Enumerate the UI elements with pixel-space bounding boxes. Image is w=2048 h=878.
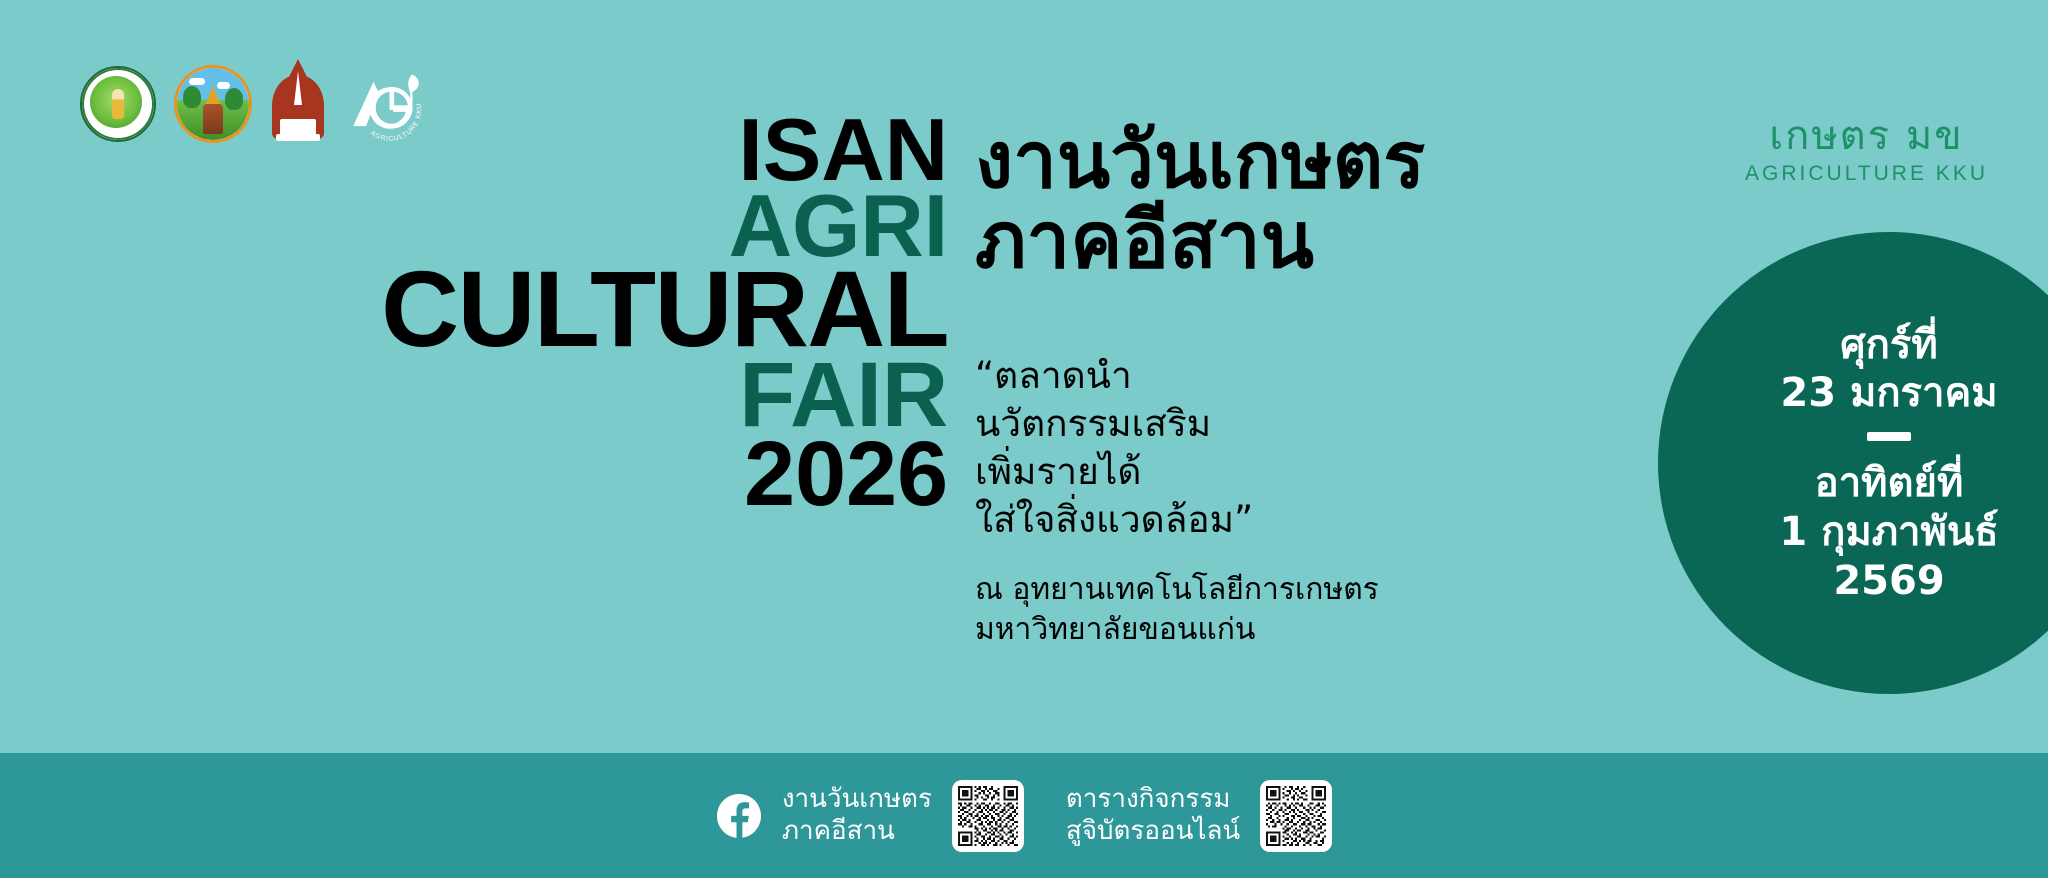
facebook-page-line-2: ภาคอีสาน <box>782 816 932 848</box>
thai-title-line-1: งานวันเกษตร <box>975 122 1675 202</box>
footer-bar: งานวันเกษตร ภาคอีสาน <box>0 753 2048 878</box>
schedule-contact-group[interactable]: ตารางกิจกรรม สูจิบัตรออนไลน์ <box>1066 780 1332 852</box>
schedule-label: ตารางกิจกรรม สูจิบัตรออนไลน์ <box>1066 784 1240 847</box>
facebook-icon[interactable] <box>716 793 762 839</box>
date-start-day: ศุกร์ที่ <box>1780 321 1997 370</box>
kku-wordmark-thai: เกษตร มข <box>1745 116 1988 156</box>
event-venue: ณ อุทยานเทคโนโลยีการเกษตร มหาวิทยาลัยขอน… <box>975 570 1535 649</box>
event-headline: ISAN AGRI CULTURAL FAIR 2026 <box>0 112 960 514</box>
headline-line-year: 2026 <box>0 435 960 514</box>
facebook-page-line-1: งานวันเกษตร <box>782 784 932 816</box>
date-year: 2569 <box>1779 557 1998 606</box>
venue-line-1: ณ อุทยานเทคโนโลยีการเกษตร <box>975 570 1535 610</box>
agriculture-kku-wordmark: เกษตร มข AGRICULTURE KKU <box>1745 116 1988 186</box>
schedule-line-2: สูจิบัตรออนไลน์ <box>1066 816 1240 848</box>
facebook-contact-group[interactable]: งานวันเกษตร ภาคอีสาน <box>716 780 1024 852</box>
slogan-line-1: “ตลาดนำ <box>975 352 1495 400</box>
date-start-group: ศุกร์ที่ 23 มกราคม <box>1780 321 1997 419</box>
venue-line-2: มหาวิทยาลัยขอนแก่น <box>975 610 1535 650</box>
date-end-day: อาทิตย์ที่ <box>1779 459 1998 508</box>
thai-title-line-2: ภาคอีสาน <box>975 202 1675 282</box>
qr-code-facebook[interactable] <box>952 780 1024 852</box>
event-slogan: “ตลาดนำ นวัตกรรมเสริม เพิ่มรายได้ ใส่ใจส… <box>975 352 1495 544</box>
event-date-badge: ศุกร์ที่ 23 มกราคม อาทิตย์ที่ 1 กุมภาพัน… <box>1658 232 2048 694</box>
facebook-page-name: งานวันเกษตร ภาคอีสาน <box>782 784 932 847</box>
date-end-group: อาทิตย์ที่ 1 กุมภาพันธ์ 2569 <box>1779 459 1998 605</box>
slogan-line-4: ใส่ใจสิ่งแวดล้อม” <box>975 496 1495 544</box>
headline-line-cultural: CULTURAL <box>0 263 960 356</box>
date-range-separator-icon <box>1867 432 1911 441</box>
thai-event-title: งานวันเกษตร ภาคอีสาน <box>975 122 1675 281</box>
slogan-line-2: นวัตกรรมเสริม <box>975 400 1495 448</box>
date-start-date: 23 มกราคม <box>1780 369 1997 418</box>
kku-wordmark-english: AGRICULTURE KKU <box>1745 162 1988 186</box>
schedule-line-1: ตารางกิจกรรม <box>1066 784 1240 816</box>
slogan-line-3: เพิ่มรายได้ <box>975 448 1495 496</box>
event-banner: AGRICULTURE KKU ISAN AGRI CULTURAL FAIR … <box>0 0 2048 878</box>
qr-code-schedule[interactable] <box>1260 780 1332 852</box>
date-end-date: 1 กุมภาพันธ์ <box>1779 508 1998 557</box>
